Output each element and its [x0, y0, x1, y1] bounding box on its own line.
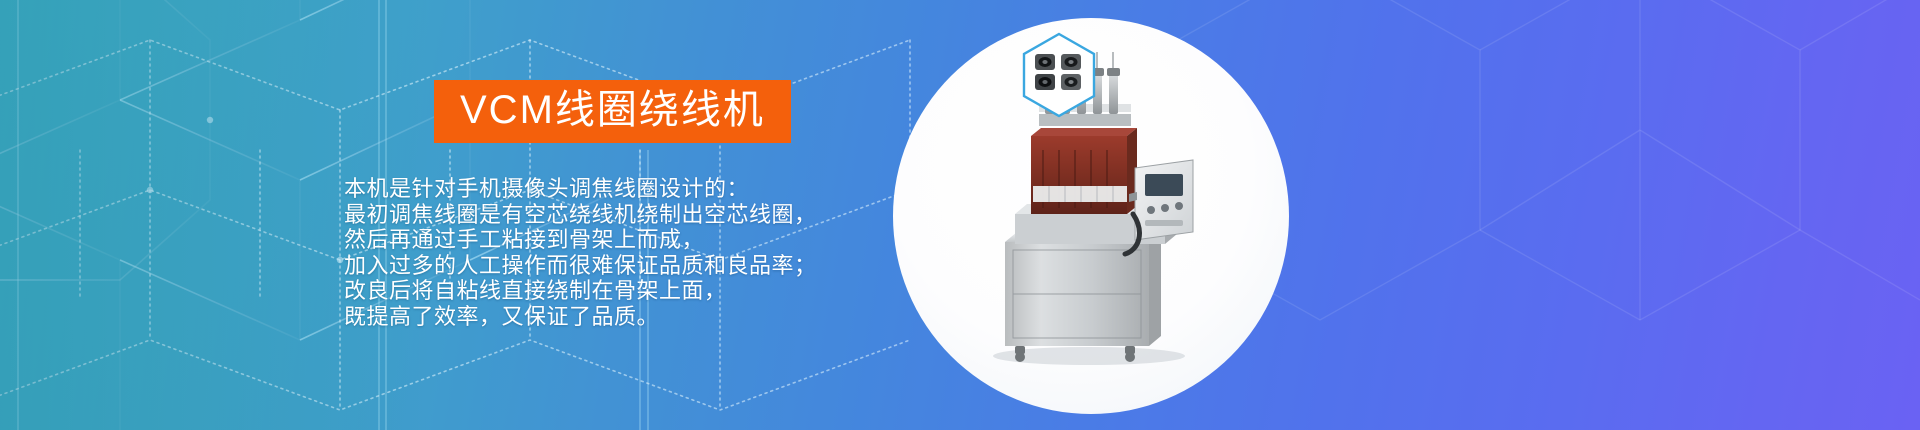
product-photo-circle: [893, 18, 1289, 414]
product-photo-area: [893, 18, 1289, 414]
banner-description: 本机是针对手机摄像头调焦线圈设计的： 最初调焦线圈是有空芯绕线机绕制出空芯线圈，…: [344, 176, 817, 329]
coil-sample-hex-badge: [1021, 32, 1097, 118]
banner-title-box: VCM线圈绕线机: [434, 80, 791, 143]
description-line: 然后再通过手工粘接到骨架上而成，: [344, 227, 817, 253]
banner-content: VCM线圈绕线机 本机是针对手机摄像头调焦线圈设计的： 最初调焦线圈是有空芯绕线…: [344, 0, 984, 430]
description-line: 改良后将自粘线直接绕制在骨架上面，: [344, 278, 817, 304]
description-line: 本机是针对手机摄像头调焦线圈设计的：: [344, 176, 817, 202]
description-line: 加入过多的人工操作而很难保证品质和良品率；: [344, 253, 817, 279]
product-banner: VCM线圈绕线机 本机是针对手机摄像头调焦线圈设计的： 最初调焦线圈是有空芯绕线…: [0, 0, 1920, 430]
description-line: 既提高了效率，又保证了品质。: [344, 304, 817, 330]
description-line: 最初调焦线圈是有空芯绕线机绕制出空芯线圈，: [344, 202, 817, 228]
page-title: VCM线圈绕线机: [460, 89, 765, 131]
